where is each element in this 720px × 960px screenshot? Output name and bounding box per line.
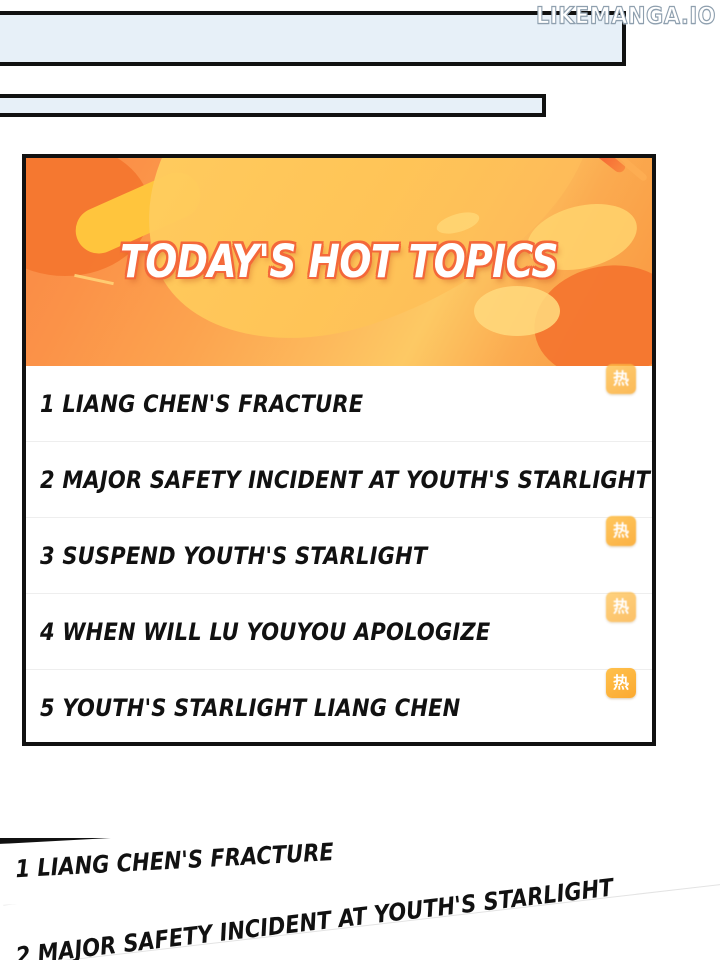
topic-label: 3 SUSPEND YOUTH'S STARLIGHT: [40, 542, 427, 570]
hot-topics-panel: TODAY'S HOT TOPICS 1 LIANG CHEN'S FRACTU…: [22, 154, 656, 746]
topic-row[interactable]: 5 YOUTH'S STARLIGHT LIANG CHEN 热: [26, 670, 652, 746]
topic-row[interactable]: 1 LIANG CHEN'S FRACTURE 热: [26, 366, 652, 442]
topic-label: 1 LIANG CHEN'S FRACTURE: [40, 390, 363, 418]
topic-label: 2 MAJOR SAFETY INCIDENT AT YOUTH'S STARL…: [40, 466, 650, 494]
topic-label: 5 YOUTH'S STARLIGHT LIANG CHEN: [40, 694, 460, 722]
topic-row[interactable]: 4 WHEN WILL LU YOUYOU APOLOGIZE 热: [26, 594, 652, 670]
hot-topics-banner: TODAY'S HOT TOPICS: [26, 158, 652, 366]
hot-badge-icon: 热: [606, 516, 636, 546]
banner-title: TODAY'S HOT TOPICS: [26, 235, 652, 287]
caption-bar-upper: [0, 11, 626, 66]
site-watermark: LIKEMANGA.IO: [536, 2, 716, 29]
topic-row[interactable]: 2 MAJOR SAFETY INCIDENT AT YOUTH'S STARL…: [26, 442, 652, 518]
topic-label: 4 WHEN WILL LU YOUYOU APOLOGIZE: [40, 618, 490, 646]
caption-bar-lower: [0, 94, 546, 117]
topic-row[interactable]: 3 SUSPEND YOUTH'S STARLIGHT 热: [26, 518, 652, 594]
bottom-zoom-panel: 1 LIANG CHEN'S FRACTURE 2 MAJOR SAFETY I…: [0, 838, 720, 960]
hot-badge-icon: 热: [606, 592, 636, 622]
hot-badge-icon: 热: [606, 364, 636, 394]
topic-list: 1 LIANG CHEN'S FRACTURE 热 2 MAJOR SAFETY…: [26, 366, 652, 746]
hot-badge-icon: 热: [606, 668, 636, 698]
decorative-ellipse-lower: [474, 286, 560, 336]
